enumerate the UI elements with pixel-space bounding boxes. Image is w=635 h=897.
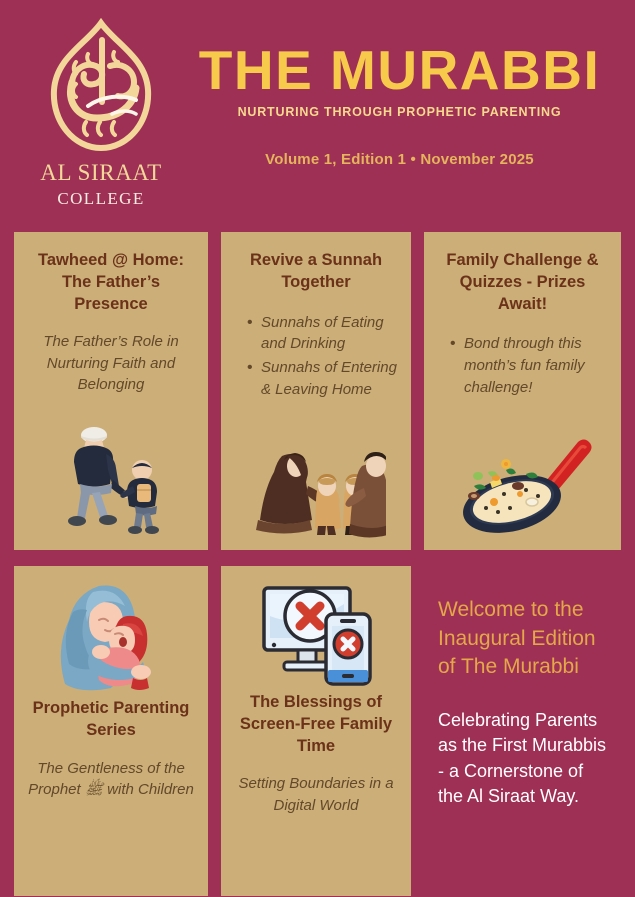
brand-lockup: AL SIRAAT COLLEGE: [22, 14, 180, 209]
card-tawheed-at-home[interactable]: Tawheed @ Home: The Father’s Presence Th…: [14, 232, 208, 550]
page-title: THE MURABBI: [180, 42, 619, 98]
welcome-body: Celebrating Parents as the First Murabbi…: [438, 708, 613, 810]
tagline: NURTURING THROUGH PROPHETIC PARENTING: [180, 105, 619, 119]
card-screen-free-family-time[interactable]: The Blessings of Screen-Free Family Time…: [221, 566, 411, 896]
newsletter-header: AL SIRAAT COLLEGE THE MURABBI NURTURING …: [0, 0, 635, 218]
list-item: Sunnahs of Eating and Drinking: [247, 312, 399, 356]
card-artwork: [233, 403, 399, 540]
card-prophetic-parenting-series[interactable]: Prophetic Parenting Series The Gentlenes…: [14, 566, 208, 896]
list-item: Sunnahs of Entering & Leaving Home: [247, 357, 399, 401]
card-revive-a-sunnah[interactable]: Revive a Sunnah Together Sunnahs of Eati…: [221, 232, 411, 550]
card-artwork: [233, 580, 399, 686]
card-artwork: [436, 401, 609, 540]
card-subtitle: The Gentleness of the Prophet ﷺ with Chi…: [26, 758, 196, 801]
card-title: Prophetic Parenting Series: [26, 698, 196, 742]
feature-card-grid: Tawheed @ Home: The Father’s Presence Th…: [14, 232, 621, 896]
card-artwork: [26, 580, 196, 692]
card-title: The Blessings of Screen-Free Family Time: [233, 692, 399, 757]
card-bullet-list: Bond through this month’s fun family cha…: [436, 333, 609, 400]
card-subtitle: Setting Boundaries in a Digital World: [233, 773, 399, 816]
welcome-block: Welcome to the Inaugural Edition of The …: [424, 566, 621, 896]
card-artwork: [26, 395, 196, 540]
frying-pan-with-food-icon: [450, 430, 596, 540]
masthead-block: THE MURABBI NURTURING THROUGH PROPHETIC …: [180, 14, 619, 168]
card-subtitle: The Father’s Role in Nurturing Faith and…: [26, 331, 196, 395]
no-screens-monitor-and-phone-icon: [250, 580, 382, 686]
welcome-title: Welcome to the Inaugural Edition of The …: [438, 596, 613, 682]
brand-subname: COLLEGE: [57, 189, 144, 209]
mother-holding-baby-icon: [49, 580, 173, 692]
card-title: Revive a Sunnah Together: [233, 250, 399, 294]
brand-name: AL SIRAAT: [40, 160, 161, 186]
father-and-child-walking-icon: [56, 422, 166, 540]
card-family-challenge-quizzes[interactable]: Family Challenge & Quizzes - Prizes Awai…: [424, 232, 621, 550]
list-item: Bond through this month’s fun family cha…: [450, 333, 609, 398]
card-title: Tawheed @ Home: The Father’s Presence: [26, 250, 196, 315]
card-title: Family Challenge & Quizzes - Prizes Awai…: [436, 250, 609, 315]
al-siraat-logo-icon: [42, 18, 160, 156]
card-bullet-list: Sunnahs of Eating and Drinking Sunnahs o…: [233, 312, 399, 403]
newsletter-page: AL SIRAAT COLLEGE THE MURABBI NURTURING …: [0, 0, 635, 897]
seated-muslim-family-icon: [246, 440, 386, 540]
volume-edition-line: Volume 1, Edition 1 • November 2025: [180, 151, 619, 168]
